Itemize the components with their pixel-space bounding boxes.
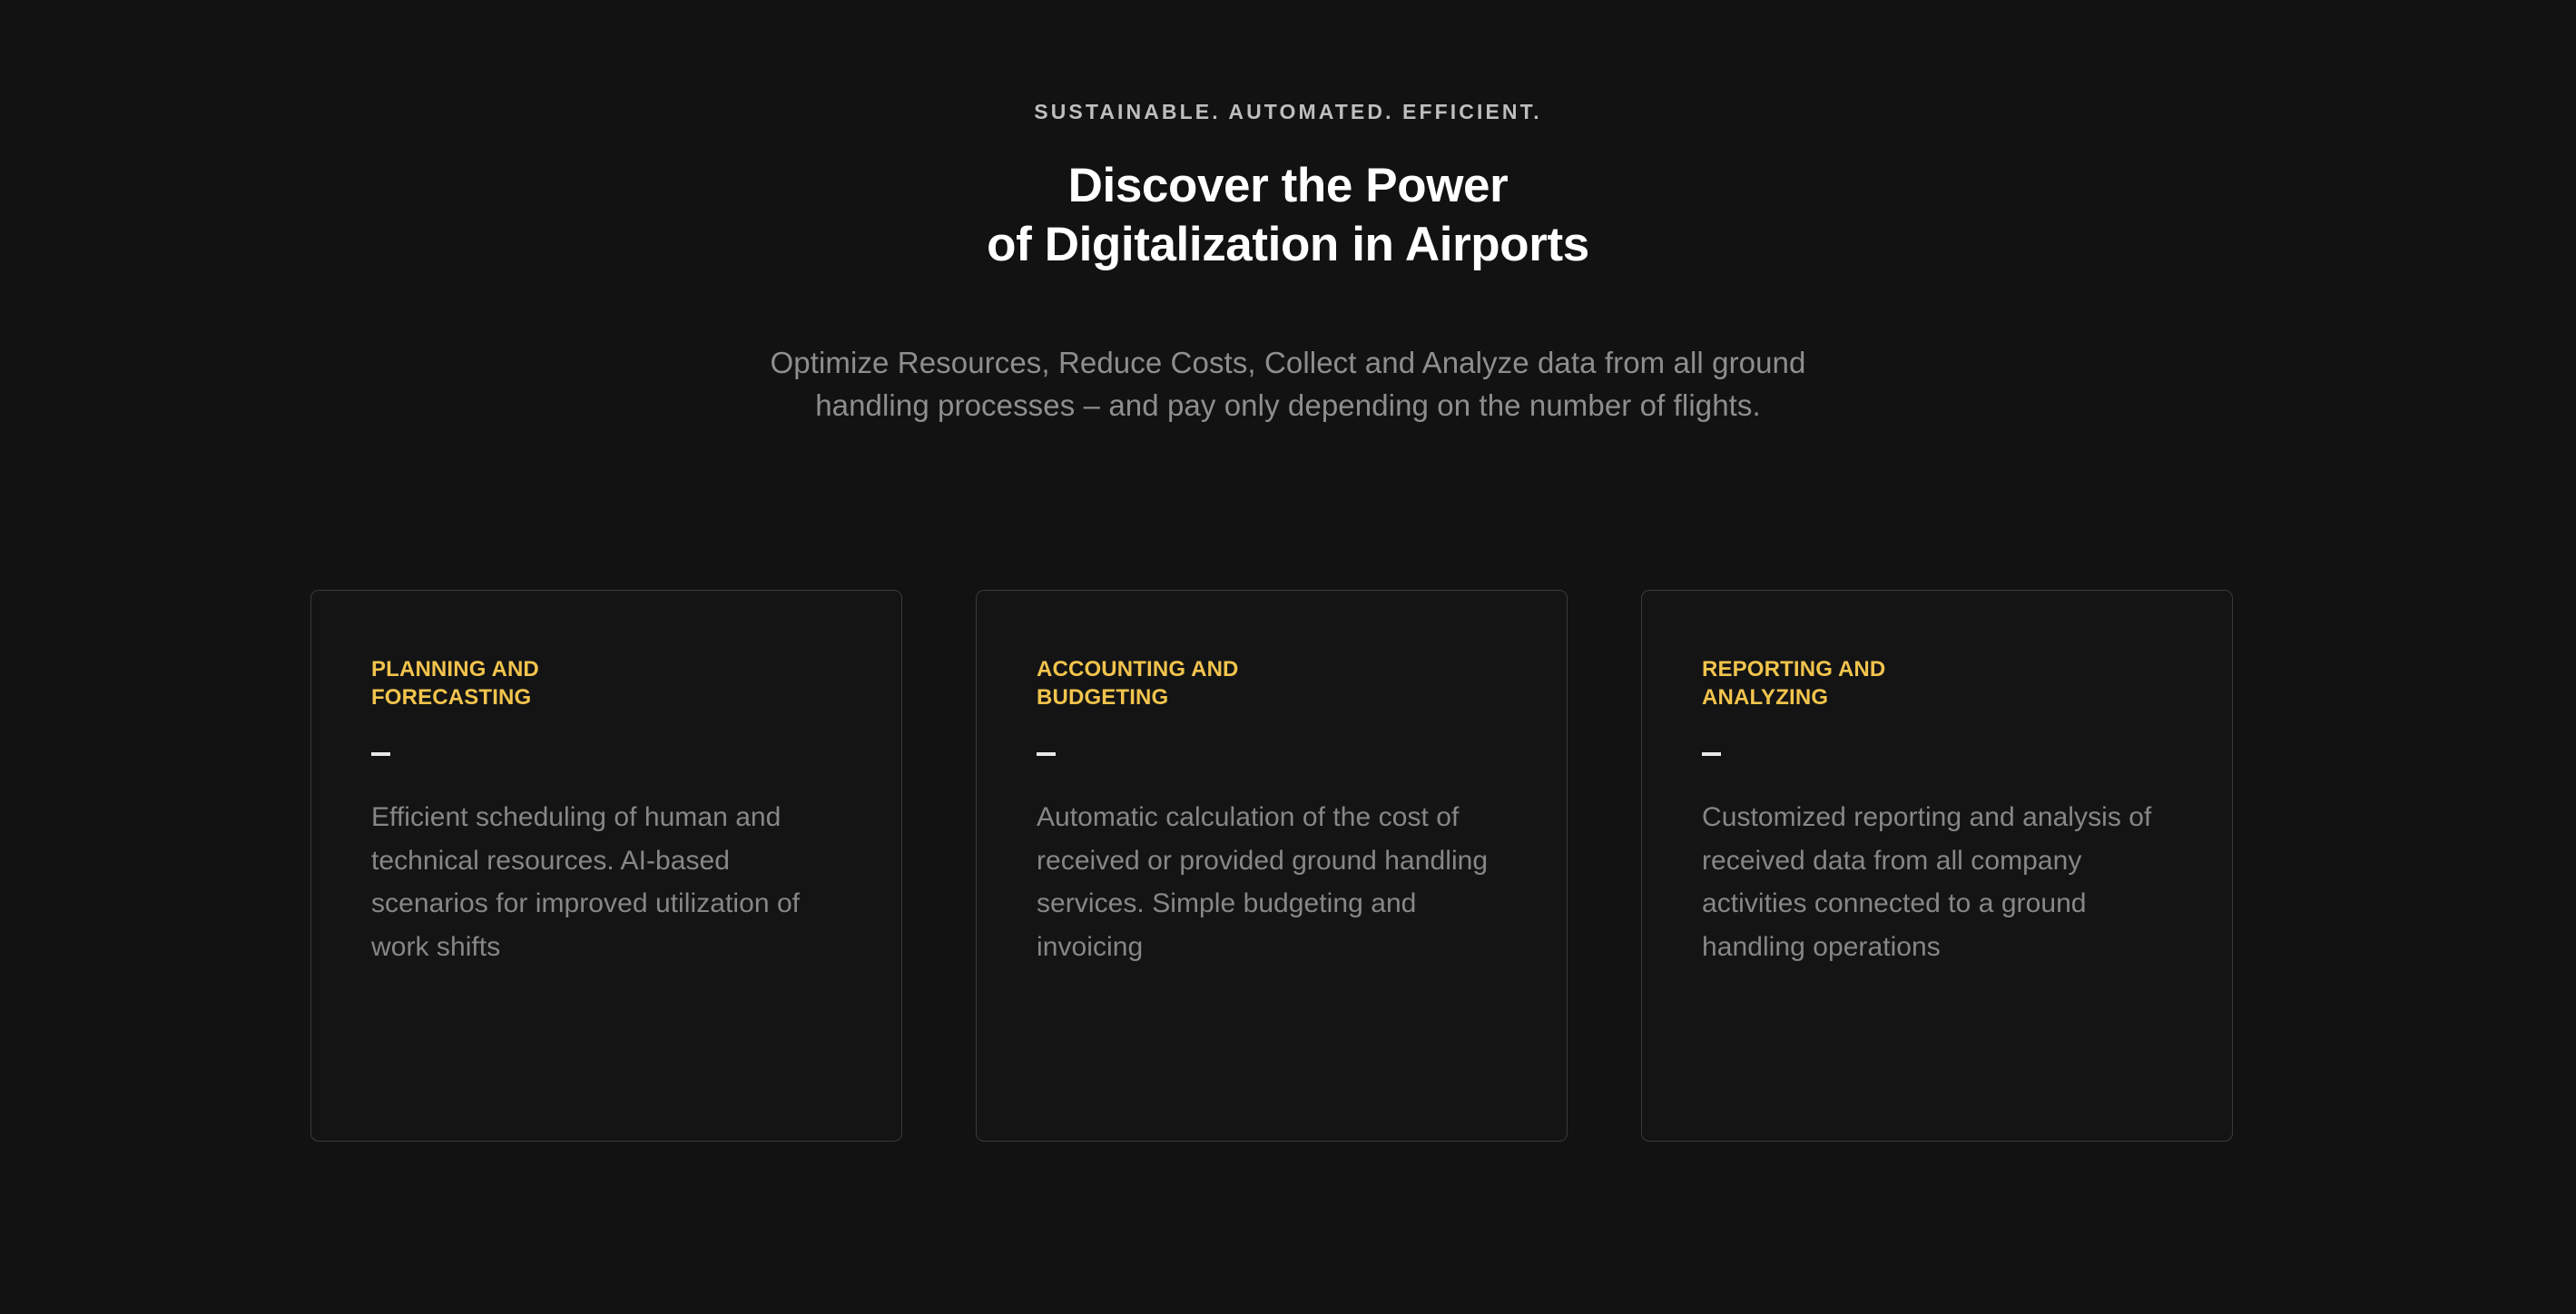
page-title-line-1: Discover the Power — [0, 157, 2576, 216]
card-title: PLANNING AND FORECASTING — [371, 656, 850, 711]
card-title: REPORTING AND ANALYZING — [1702, 656, 2181, 711]
dash-divider-icon — [371, 752, 390, 756]
hero-subtitle-line-1: Optimize Resources, Reduce Costs, Collec… — [0, 342, 2576, 385]
dash-divider-icon — [1702, 752, 1721, 756]
feature-card-planning-and-forecasting[interactable]: PLANNING AND FORECASTING Efficient sched… — [310, 590, 902, 1142]
feature-card-reporting-and-analyzing[interactable]: REPORTING AND ANALYZING Customized repor… — [1641, 590, 2233, 1142]
card-title: ACCOUNTING AND BUDGETING — [1037, 656, 1516, 711]
card-title-line-1: PLANNING AND — [371, 657, 539, 682]
card-title-line-1: ACCOUNTING AND — [1037, 657, 1239, 682]
dash-divider-icon — [1037, 752, 1056, 756]
hero-subtitle: Optimize Resources, Reduce Costs, Collec… — [0, 342, 2576, 427]
card-description: Automatic calculation of the cost of rec… — [1037, 796, 1516, 968]
card-description: Efficient scheduling of human and techni… — [371, 796, 850, 968]
page-title-line-2: of Digitalization in Airports — [0, 216, 2576, 275]
card-title-line-2: FORECASTING — [371, 685, 531, 710]
hero-header: SUSTAINABLE. AUTOMATED. EFFICIENT. Disco… — [0, 0, 2576, 427]
card-description: Customized reporting and analysis of rec… — [1702, 796, 2181, 968]
card-title-line-2: ANALYZING — [1702, 685, 1828, 710]
card-title-line-1: REPORTING AND — [1702, 657, 1885, 682]
hero-subtitle-line-2: handling processes – and pay only depend… — [0, 385, 2576, 427]
hero-eyebrow: SUSTAINABLE. AUTOMATED. EFFICIENT. — [0, 102, 2576, 123]
feature-card-accounting-and-budgeting[interactable]: ACCOUNTING AND BUDGETING Automatic calcu… — [976, 590, 1568, 1142]
feature-card-list: PLANNING AND FORECASTING Efficient sched… — [310, 590, 2233, 1142]
page-root: SUSTAINABLE. AUTOMATED. EFFICIENT. Disco… — [0, 0, 2576, 1314]
card-title-line-2: BUDGETING — [1037, 685, 1168, 710]
page-title: Discover the Power of Digitalization in … — [0, 157, 2576, 274]
